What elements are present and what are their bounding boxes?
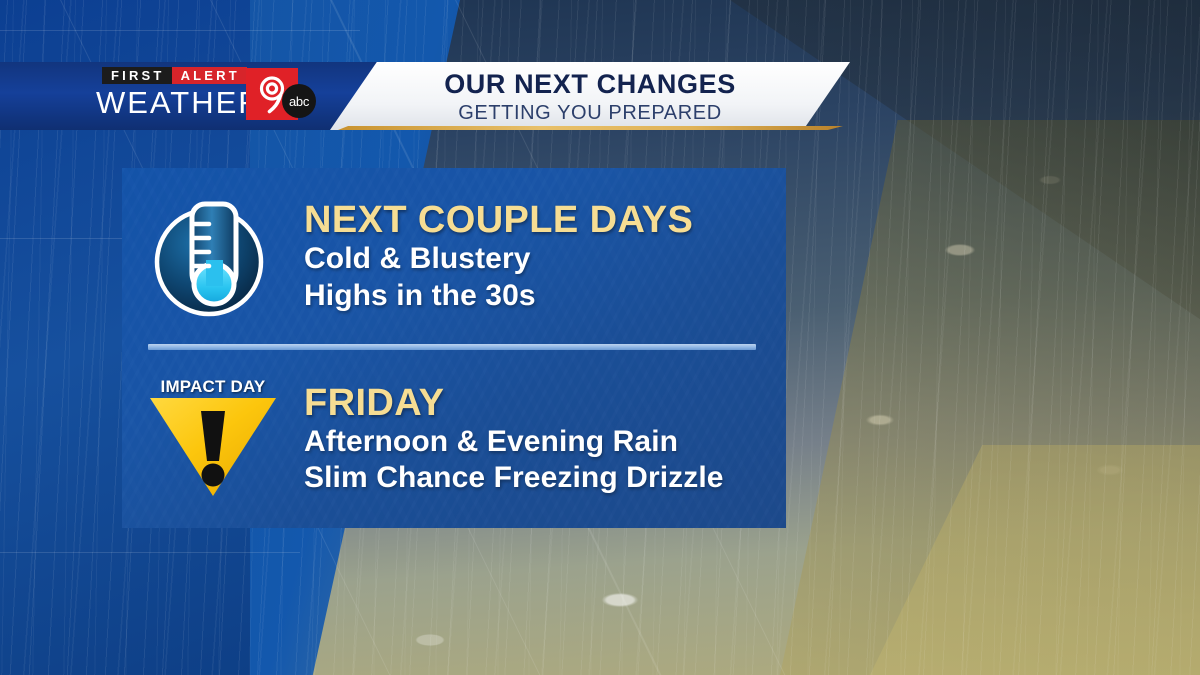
forecast-row-text: NEXT COUPLE DAYS Cold & Blustery Highs i… <box>304 201 786 314</box>
warning-triangle-icon <box>146 395 280 499</box>
page-subtitle: GETTING YOU PREPARED <box>458 103 722 123</box>
header-title-block: OUR NEXT CHANGES GETTING YOU PREPARED <box>330 62 850 130</box>
forecast-detail-line: Highs in the 30s <box>304 278 786 315</box>
impact-day-icon: IMPACT DAY <box>138 377 288 505</box>
forecast-row-icon-slot <box>122 194 304 322</box>
alert-label: ALERT <box>172 67 247 84</box>
background-horizontal-line <box>0 552 300 553</box>
forecast-row-icon-slot: IMPACT DAY <box>122 377 304 505</box>
forecast-panel: NEXT COUPLE DAYS Cold & Blustery Highs i… <box>122 168 786 528</box>
forecast-detail-line: Afternoon & Evening Rain <box>304 424 786 461</box>
thermometer-icon <box>149 194 277 322</box>
forecast-headline: NEXT COUPLE DAYS <box>304 201 786 241</box>
panel-divider <box>148 344 756 350</box>
forecast-row-text: FRIDAY Afternoon & Evening Rain Slim Cha… <box>304 384 786 497</box>
forecast-row: IMPACT DAY <box>122 358 786 523</box>
impact-day-label: IMPACT DAY <box>161 377 266 397</box>
page-title: OUR NEXT CHANGES <box>444 71 736 98</box>
forecast-row: NEXT COUPLE DAYS Cold & Blustery Highs i… <box>122 174 786 342</box>
forecast-detail-line: Slim Chance Freezing Drizzle <box>304 460 786 497</box>
abc-network-logo: abc <box>282 84 316 118</box>
first-label: FIRST <box>102 67 172 84</box>
background-horizontal-line <box>0 30 360 31</box>
forecast-headline: FRIDAY <box>304 384 786 424</box>
forecast-detail-line: Cold & Blustery <box>304 241 786 278</box>
header-banner: FIRST ALERT WEATHER abc OUR NEXT CHANGES… <box>0 62 1200 132</box>
header-gold-accent-line <box>338 126 843 130</box>
